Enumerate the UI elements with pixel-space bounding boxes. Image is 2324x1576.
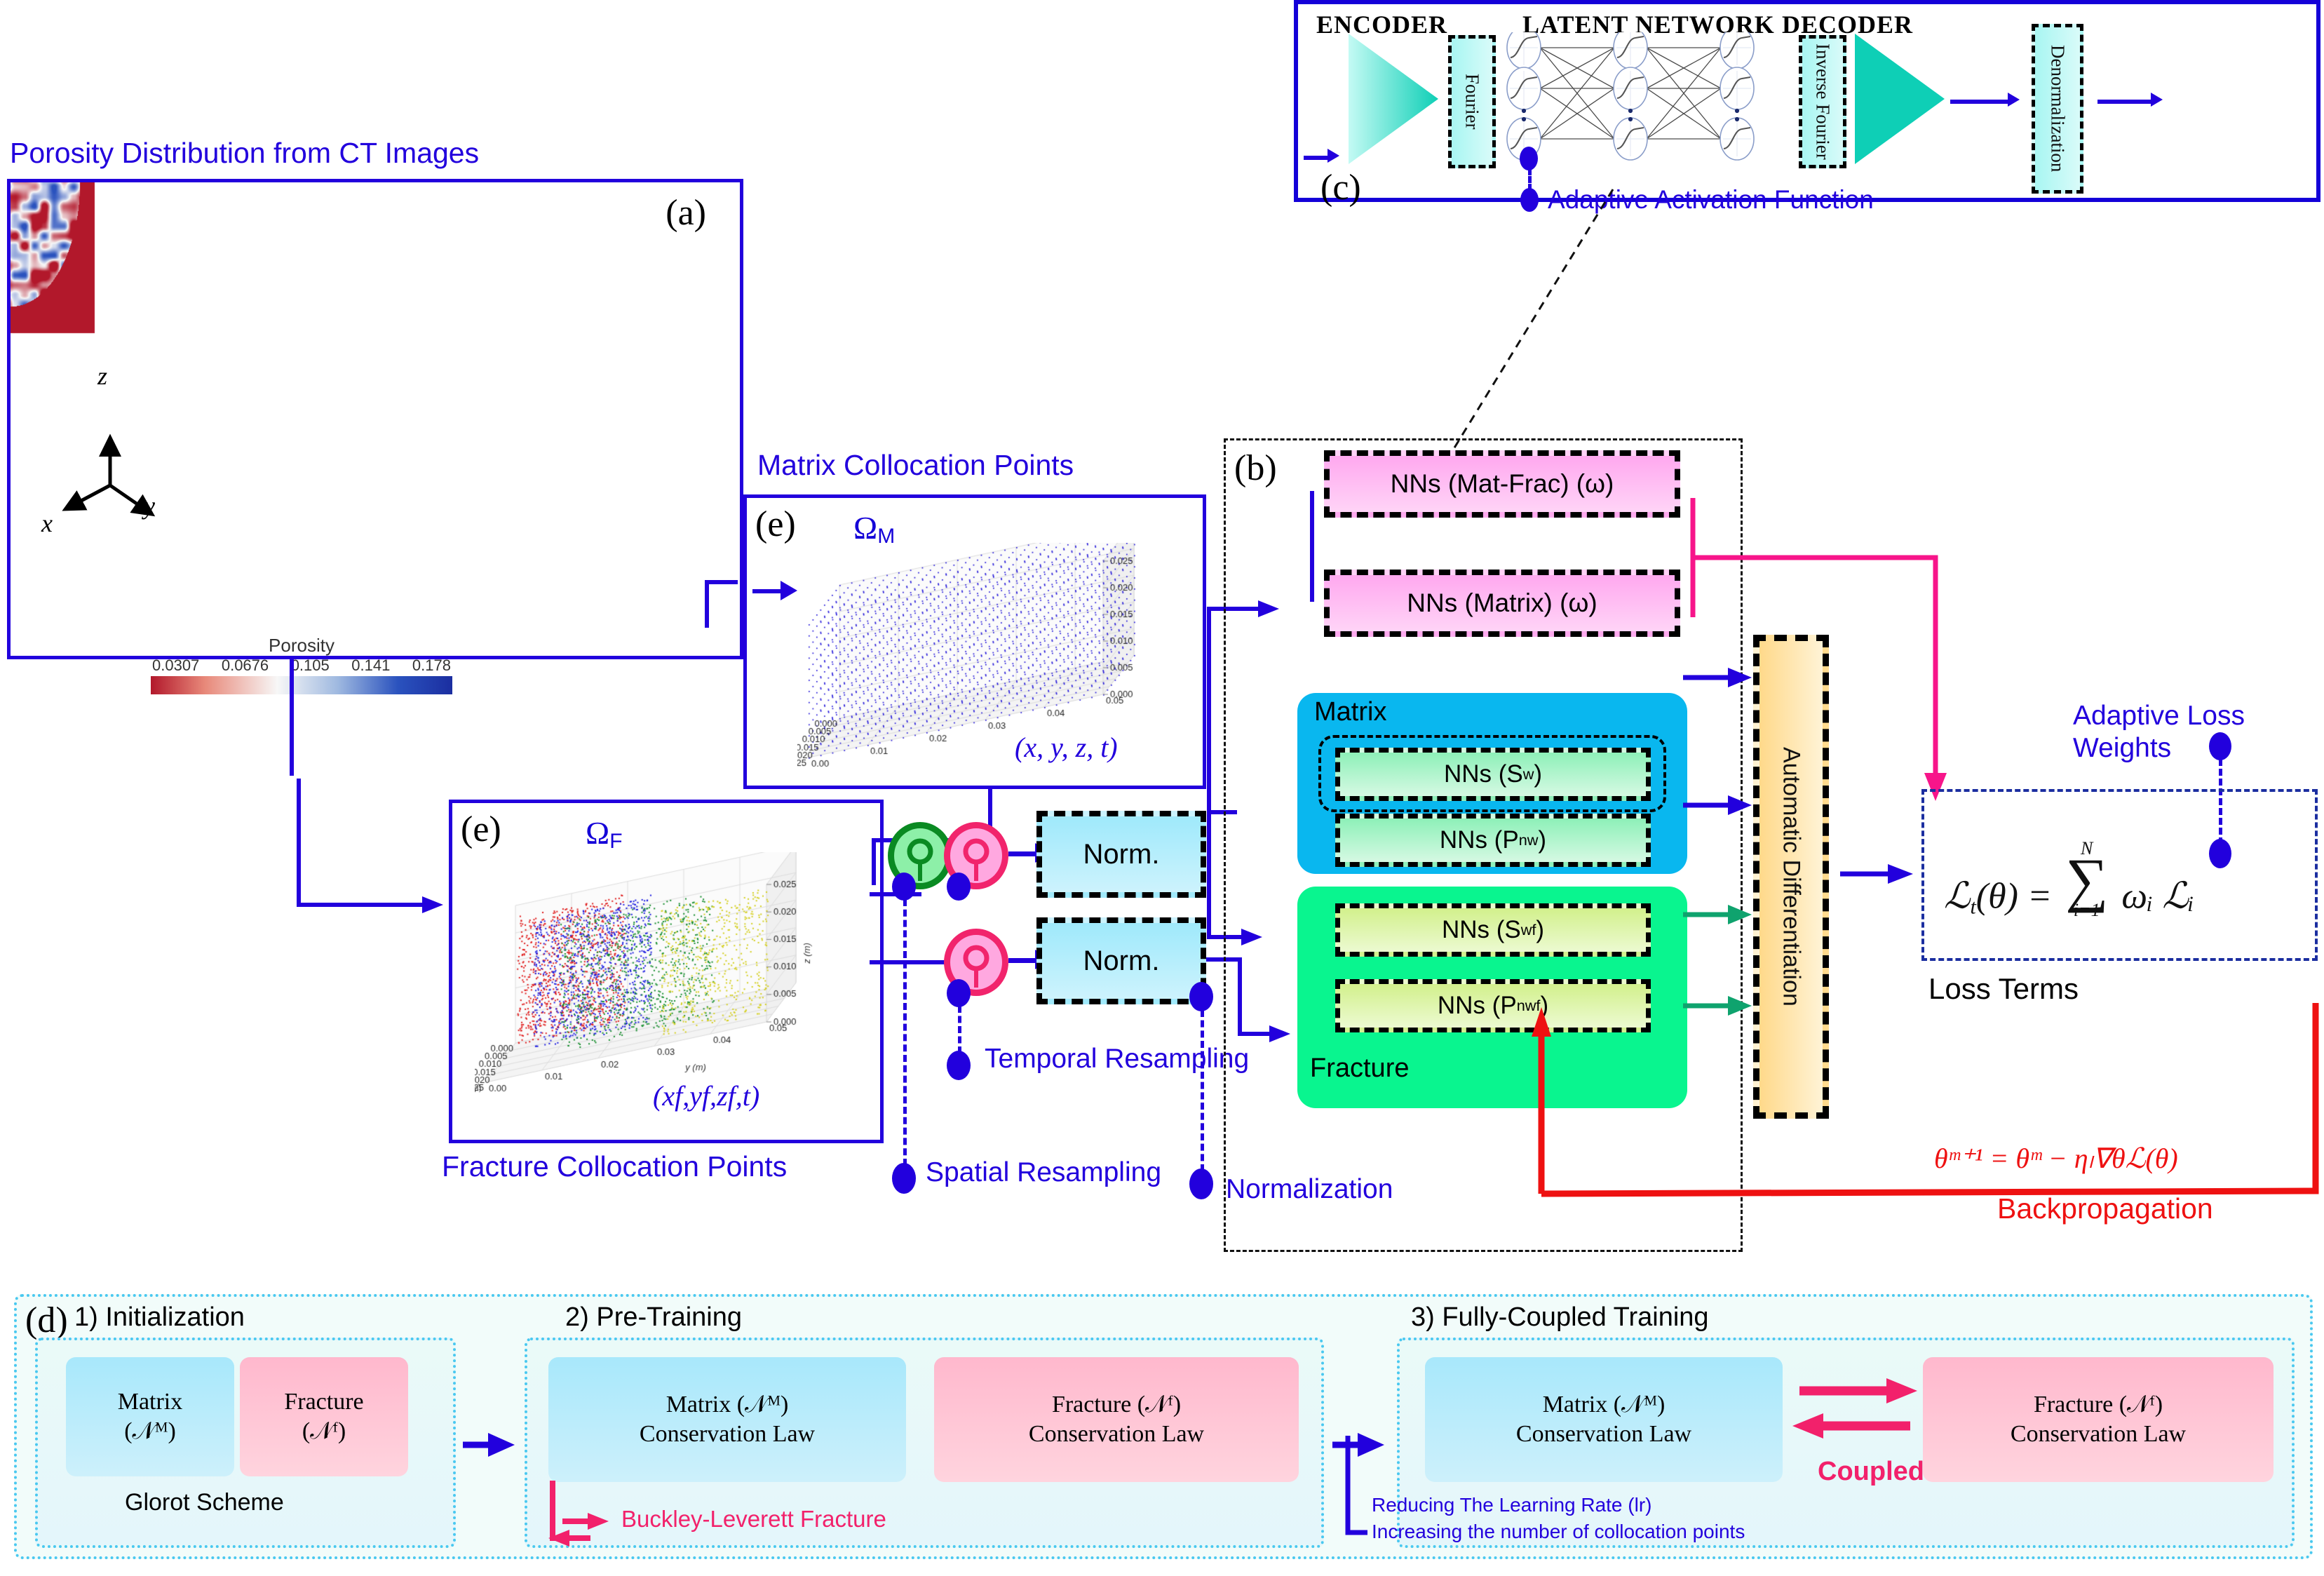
panel-c-network-architecture: ENCODER LATENT NETWORK DECODER Fourier A…	[1294, 0, 2320, 202]
normalization-endpoint	[1189, 1168, 1213, 1199]
ring-to-norm2-line	[1008, 958, 1038, 963]
temporal-resampling-connector	[958, 1006, 961, 1053]
nn-sw-matrix: NNs (Sw)	[1335, 748, 1651, 801]
omega-subscript: F	[609, 830, 622, 853]
spatial-resampling-endpoint	[892, 1163, 916, 1194]
buckley-leverett-connector	[541, 1481, 626, 1558]
axis-label-y: y	[144, 491, 155, 520]
panel-e-fracture-title: Fracture Collocation Points	[442, 1150, 787, 1183]
step-3-heading: 3) Fully-Coupled Training	[1411, 1302, 1709, 1333]
loss-formula: ℒt(θ) = N ∑ i=1 ωᵢ ℒᵢ	[1944, 838, 2194, 921]
glorot-scheme-label: Glorot Scheme	[125, 1489, 284, 1516]
buckley-leverett-label: Buckley-Leverett Fracture	[621, 1506, 886, 1533]
panel-b-tag: (b)	[1234, 447, 1277, 489]
panel-c-tag: (c)	[1320, 167, 1361, 208]
panel-a-bottom-stub	[288, 659, 330, 779]
inverse-fourier-label: Inverse Fourier	[1812, 43, 1834, 160]
nn-swf-fracture: NNs (Swf)	[1335, 903, 1651, 957]
loss-terms-box: ℒt(θ) = N ∑ i=1 ωᵢ ℒᵢ	[1921, 789, 2318, 961]
coupled-label: Coupled	[1818, 1457, 1924, 1487]
colorbar-title: Porosity	[151, 635, 452, 656]
lr-annotation-label: Reducing The Learning Rate (lr)Increasin…	[1372, 1492, 1745, 1545]
step-2-container: Matrix (𝒩ᴹ)Conservation Law Fracture (𝒩ᶠ…	[525, 1338, 1324, 1548]
latent-neuron	[1614, 67, 1647, 109]
ct-porosity-render	[11, 182, 740, 656]
omega-glyph: Ω	[853, 510, 877, 546]
norm-box-matrix: Norm.	[1036, 811, 1206, 898]
panel-b-input-bar	[1310, 491, 1314, 602]
denormalization-block: Denormalization	[2032, 24, 2083, 194]
step-1-container: Matrix(𝒩ᴹ) Fracture(𝒩ᶠ) Glorot Scheme	[35, 1338, 456, 1548]
panel-e-fracture-collocation: (e) ΩF (xf,yf,zf,t)	[449, 800, 884, 1143]
inverse-fourier-block: Inverse Fourier	[1799, 35, 1846, 168]
latent-ellipsis-icon	[1628, 109, 1633, 121]
decoder-triangle-icon	[1855, 34, 1946, 168]
latent-ellipsis-icon	[1735, 109, 1739, 121]
panel-a-ct-image: (a) z y x Porosity 0.03070.06760.1050.14…	[7, 179, 743, 659]
panel-e-fracture-tag: (e)	[461, 809, 501, 850]
fracture-coords-label: (xf,yf,zf,t)	[653, 1079, 759, 1112]
coupled-fracture-box: Fracture (𝒩ᶠ)Conservation Law	[1923, 1357, 2274, 1482]
fourier-label: Fourier	[1461, 74, 1483, 129]
sum-sigma-glyph: ∑	[2065, 859, 2108, 900]
automatic-differentiation-label: Automatic Differentiation	[1778, 747, 1805, 1006]
latent-neuron	[1720, 67, 1754, 109]
panel-e-matrix-title: Matrix Collocation Points	[757, 449, 1074, 482]
nn-mat-frac-weights: NNs (Mat-Frac) (ω)	[1324, 450, 1680, 518]
panel-c-input-arrow	[1327, 149, 1339, 163]
latent-neuron	[1507, 67, 1541, 109]
fracture-domain-symbol: ΩF	[586, 814, 623, 854]
step-1-heading: 1) Initialization	[74, 1302, 245, 1333]
latent-neuron	[1614, 32, 1647, 69]
denormalization-label: Denormalization	[2047, 45, 2069, 172]
spatial-resampling-label: Spatial Resampling	[926, 1157, 1080, 1188]
panel-d-training-workflow: (d) 1) Initialization 2) Pre-Training 3)…	[14, 1294, 2313, 1559]
fracture-collocation-scatter	[475, 852, 853, 1105]
decoder-to-denorm-arrow	[2008, 93, 2020, 107]
adaptive-activation-node	[1520, 147, 1538, 170]
panel-c-output-line	[2097, 100, 2152, 104]
colorbar-tick: 0.178	[412, 656, 451, 675]
adaptive-loss-weights-node	[2209, 732, 2231, 760]
omega-glyph: Ω	[586, 815, 609, 851]
panel-c-input-line	[1304, 156, 1329, 160]
temporal-resampling-label: Temporal Resampling	[985, 1044, 1160, 1075]
panel-a-title: Porosity Distribution from CT Images	[10, 137, 479, 170]
nn-matrix-weights: NNs (Matrix) (ω)	[1324, 570, 1680, 637]
step-2-heading: 2) Pre-Training	[565, 1302, 742, 1333]
axis-label-x: x	[41, 509, 53, 538]
pretrain-fracture-box: Fracture (𝒩ᶠ)Conservation Law	[934, 1357, 1299, 1482]
axis-label-z: z	[97, 361, 107, 391]
colorbar-tick: 0.0307	[152, 656, 199, 675]
panel-d-tag: (d)	[25, 1300, 68, 1341]
temporal-resampling-node-bottom	[947, 979, 971, 1007]
pretrain-matrix-box: Matrix (𝒩ᴹ)Conservation Law	[548, 1357, 906, 1482]
coupled-double-arrow	[1792, 1375, 1933, 1460]
backpropagation-arrow-path	[1459, 996, 2324, 1248]
loss-L-subscript: t	[1970, 895, 1975, 918]
panel-e-matrix-collocation: (e) ΩM (x, y, z, t)	[743, 494, 1206, 789]
spatial-resampling-connector	[903, 899, 907, 1166]
latent-neuron	[1720, 118, 1754, 160]
loss-summand: ωᵢ ℒᵢ	[2121, 876, 2194, 916]
step1-to-step2-arrow	[463, 1427, 526, 1462]
init-matrix-box: Matrix(𝒩ᴹ)	[66, 1357, 234, 1476]
coupled-matrix-box: Matrix (𝒩ᴹ)Conservation Law	[1425, 1357, 1783, 1482]
loss-theta-eq: (θ) =	[1976, 876, 2052, 916]
decoder-to-denorm-line	[1950, 100, 2009, 104]
matrix-group: Matrix NNs (Sw) NNs (Pnw)	[1297, 693, 1687, 874]
panel-a-tag: (a)	[666, 192, 706, 234]
loss-L-glyph: ℒ	[1944, 876, 1970, 916]
axis-triad-icon	[53, 421, 172, 540]
a-to-fracture-arrow	[295, 772, 463, 982]
fracture-group-label: Fracture	[1310, 1053, 1409, 1084]
matrix-collocation-scatter	[797, 543, 1190, 774]
colorbar-tick: 0.141	[351, 656, 390, 675]
latent-ellipsis-icon	[1522, 109, 1526, 121]
a-to-matrix-arrow	[701, 491, 806, 631]
spatial-resampling-node	[892, 873, 916, 901]
temporal-resampling-endpoint	[947, 1051, 971, 1080]
colorbar-tick: 0.0676	[222, 656, 269, 675]
nn-pnw-matrix: NNs (Pnw)	[1335, 814, 1651, 867]
latent-neuron	[1614, 118, 1647, 160]
latent-network-graph	[1504, 32, 1792, 173]
autodiff-to-loss-arrow	[1840, 853, 1924, 895]
matrix-coords-label: (x, y, z, t)	[1015, 731, 1118, 764]
adaptive-activation-endpoint	[1520, 188, 1539, 212]
latent-neuron	[1720, 32, 1754, 69]
init-fracture-box: Fracture(𝒩ᶠ)	[240, 1357, 408, 1476]
panel-c-output-arrow	[2151, 93, 2163, 107]
norm-box-fracture: Norm.	[1036, 917, 1206, 1004]
fourier-block: Fourier	[1448, 35, 1496, 168]
ring-to-norm1-line	[1008, 851, 1038, 856]
temporal-resampling-node-top	[947, 873, 971, 901]
matrix-group-label: Matrix	[1314, 697, 1386, 727]
latent-neuron	[1507, 32, 1541, 69]
adaptive-activation-label: Adaptive Activation Function	[1548, 185, 1874, 215]
